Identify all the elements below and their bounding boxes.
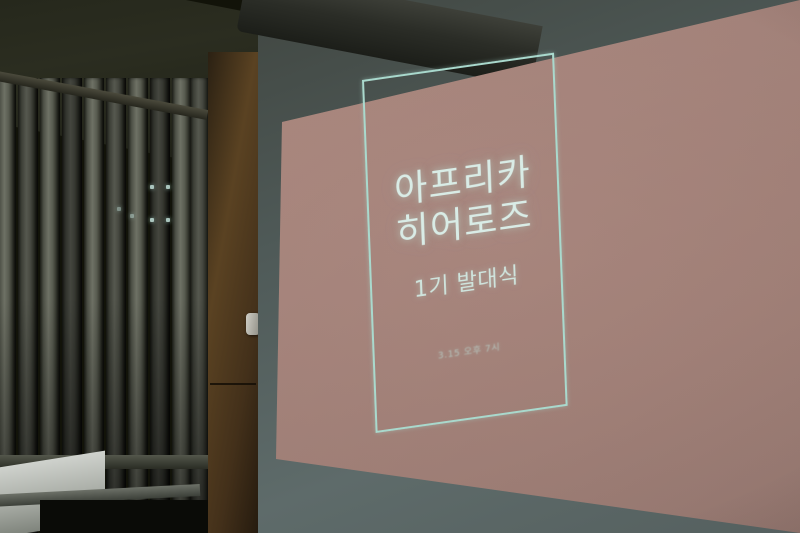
wood-panel-seam <box>210 383 256 385</box>
under-desk-shadow <box>40 500 230 533</box>
wooden-wall-panel <box>208 52 260 533</box>
slide-border-frame <box>362 53 568 433</box>
blind-light-reflection <box>166 218 170 222</box>
blind-light-reflection <box>150 218 154 222</box>
room-left-side <box>0 0 300 533</box>
blind-light-reflection <box>117 207 121 211</box>
blind-light-reflection <box>166 185 170 189</box>
blind-light-reflection <box>150 185 154 189</box>
blind-light-reflection <box>130 214 134 218</box>
projector-room-photo: 아프리카 히어로즈 1기 발대식 3.15 오후 7시 <box>0 0 800 533</box>
